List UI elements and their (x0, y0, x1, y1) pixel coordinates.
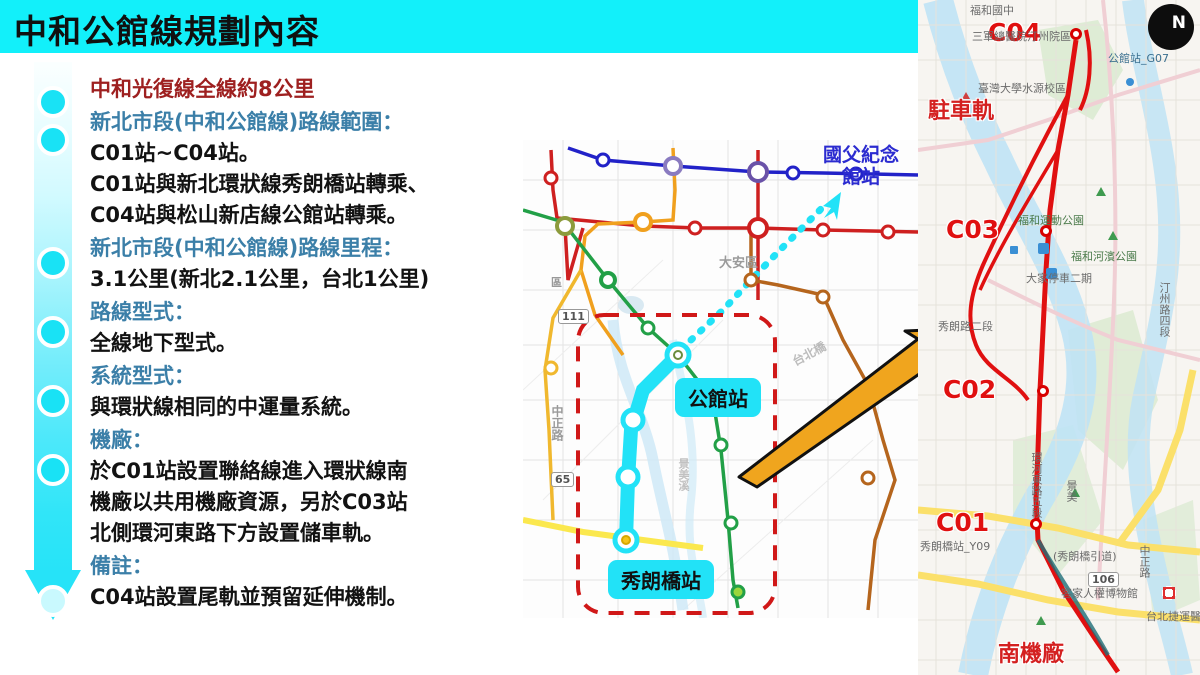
annotation-south-depot: 南機廠 (998, 636, 1064, 668)
bullet-line: C04站與松山新店線公館站轉乘。 (90, 200, 510, 231)
bullet-line: 與環狀線相同的中運量系統。 (90, 392, 510, 423)
station-label-c01: C01 (936, 508, 989, 537)
station-chip-xiulangqiao: 秀朗橋站 (608, 560, 714, 599)
bullet-block-4: 路線型式： 全線地下型式。 (90, 297, 510, 359)
poi-label: 秀朗橋站_Y09 (920, 538, 990, 554)
slide-root: 中和公館線規劃內容 中和光復線全線約8公里 新北市段(中和公館線)路線範圍： C… (0, 0, 1200, 675)
highway-badge-106: 106 (1088, 572, 1119, 587)
bullet-heading: 中和光復線全線約8公里 (90, 74, 510, 105)
bullet-line: 3.1公里(新北2.1公里，台北1公里) (90, 264, 510, 295)
bullet-line: 於C01站設置聯絡線進入環狀線南 (90, 456, 510, 487)
bullet-line: 北側環河東路下方設置儲車軌。 (90, 518, 510, 549)
map-label-jingmei-creek: 景美溪 (675, 458, 691, 491)
bullet-line: C01站與新北環狀線秀朗橋站轉乘、 (90, 169, 510, 200)
bullet-line: 機廠以共用機廠資源，另於C03站 (90, 487, 510, 518)
station-label-c03: C03 (946, 215, 999, 244)
bullet-block-1: 中和光復線全線約8公里 (90, 74, 510, 105)
compass-label-n: N (1172, 12, 1186, 34)
poi-label: 客家人權博物館 (1061, 585, 1138, 601)
poi-label: 福和運動公園 (1018, 212, 1084, 228)
bullet-line: C04站設置尾軌並預留延伸機制。 (90, 582, 510, 613)
poi-label: 台北捷運醫院 (1146, 608, 1200, 624)
poi-label: 臺灣大學水源校區 (978, 80, 1066, 96)
map-label-district: 區 (551, 274, 562, 290)
bullet-line: 全線地下型式。 (90, 328, 510, 359)
bullet-heading: 新北市段(中和公館線)路線里程： (90, 233, 510, 264)
bullet-heading: 機廠： (90, 425, 510, 456)
annotation-storage-track: 駐車軌 (928, 93, 994, 125)
bullet-block-6: 機廠： 於C01站設置聯絡線進入環狀線南 機廠以共用機廠資源，另於C03站 北側… (90, 425, 510, 549)
bullet-heading: 路線型式： (90, 297, 510, 328)
bullet-dot-6 (37, 454, 69, 486)
station-dot-c01 (1030, 518, 1042, 530)
bullet-dot-2 (37, 124, 69, 156)
poi-label: 環河東路五段 (1028, 452, 1044, 518)
poi-label: 汀州路四段 (1156, 282, 1172, 337)
metro-line-orange (581, 148, 675, 355)
cyan-pointer-arrow (823, 192, 841, 220)
bullet-heading: 備註： (90, 551, 510, 582)
bullet-dot-4 (37, 316, 69, 348)
bullet-dot-1 (37, 86, 69, 118)
bullet-heading: 系統型式： (90, 361, 510, 392)
bullet-block-3: 新北市段(中和公館線)路線里程： 3.1公里(新北2.1公里，台北1公里) (90, 233, 510, 295)
bullet-heading: 新北市段(中和公館線)路線範圍： (90, 107, 510, 138)
page-title: 中和公館線規劃內容 (14, 5, 320, 53)
metro-line-red-west (551, 150, 583, 280)
map-label-daan-district: 大安區 (719, 252, 758, 271)
poi-label: 公館站_G07 (1108, 50, 1169, 66)
header-bar: 中和公館線規劃內容 (0, 0, 918, 53)
poi-label: 秀朗路二段 (938, 318, 993, 334)
map-label-guofu: 國父紀念館站 (823, 144, 899, 188)
bullet-block-5: 系統型式： 與環狀線相同的中運量系統。 (90, 361, 510, 423)
vertical-flow-arrow (25, 62, 81, 620)
highway-badge-111: 111 (558, 309, 589, 324)
bullet-dot-5 (37, 385, 69, 417)
poi-label: 大家停車二期 (1026, 270, 1092, 286)
poi-label: 三軍總醫院汀州院區 (972, 28, 1071, 44)
major-road-yellow (523, 520, 703, 548)
station-dot-c02 (1037, 385, 1049, 397)
map-label-zhongzheng-rd: 中正路 (549, 405, 566, 441)
poi-label: 福和國中 (970, 2, 1014, 18)
bullet-block-2: 新北市段(中和公館線)路線範圍： C01站~C04站。 C01站與新北環狀線秀朗… (90, 107, 510, 231)
station-dot-c04 (1070, 28, 1082, 40)
detail-alignment-map: N C04 C03 C02 C01 駐車軌 南機廠 三軍總醫院汀州院區 臺灣大學… (918, 0, 1200, 675)
highway-badge-65: 65 (551, 472, 574, 487)
poi-label: 景美 (1063, 480, 1079, 502)
bullet-dot-3 (37, 247, 69, 279)
poi-label: 中正路 (1136, 545, 1152, 578)
bullet-block-7: 備註： C04站設置尾軌並預留延伸機制。 (90, 551, 510, 613)
bullet-list: 中和光復線全線約8公里 新北市段(中和公館線)路線範圍： C01站~C04站。 … (90, 74, 510, 615)
poi-label: 福和河濱公園 (1071, 248, 1137, 264)
bullet-dot-7 (37, 585, 69, 617)
bullet-line: C01站~C04站。 (90, 138, 510, 169)
station-label-c02: C02 (943, 375, 996, 404)
poi-label: (秀朗橋引道) (1053, 548, 1117, 564)
